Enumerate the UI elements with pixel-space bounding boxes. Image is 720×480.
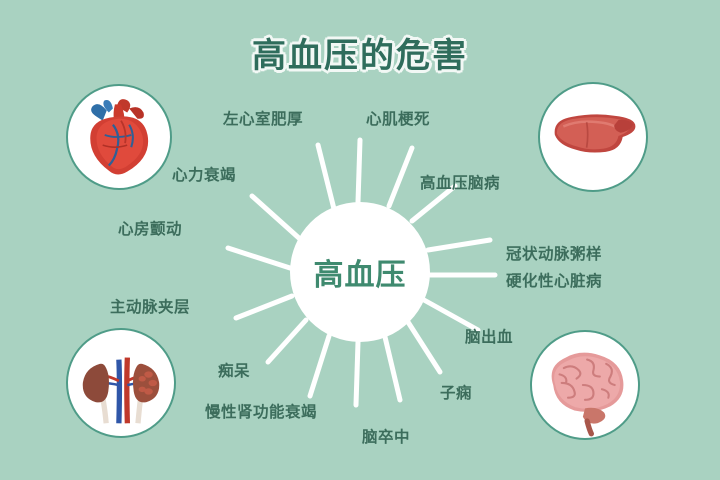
liver-illustration xyxy=(538,82,648,192)
hazard-left-ventricular-hypertrophy[interactable]: 左心室肥厚 xyxy=(223,110,303,129)
hazard-atrial-fibrillation[interactable]: 心房颤动 xyxy=(118,220,182,239)
hazard-myocardial-infarction[interactable]: 心肌梗死 xyxy=(366,110,430,129)
hazard-cerebral-hemorrhage[interactable]: 脑出血 xyxy=(465,328,513,347)
hazard-hypertensive-encephalopathy[interactable]: 高血压脑病 xyxy=(420,174,500,193)
center-node: 高血压 xyxy=(290,202,430,342)
brain-illustration xyxy=(530,330,640,440)
hazard-eclampsia[interactable]: 子痫 xyxy=(440,384,472,403)
page-title: 高血压的危害 xyxy=(0,28,720,77)
hazard-stroke[interactable]: 脑卒中 xyxy=(362,428,410,447)
hypertension-hazards-infographic: 高血压的危害 高血压 左心室肥厚 心肌梗死 高血压脑病 冠状动脉粥样 硬化性心脏… xyxy=(0,0,720,480)
hazard-aortic-dissection[interactable]: 主动脉夹层 xyxy=(110,298,190,317)
center-node-label: 高血压 xyxy=(314,250,407,294)
hazard-chronic-renal-failure[interactable]: 慢性肾功能衰竭 xyxy=(205,403,317,422)
hazard-dementia[interactable]: 痴呆 xyxy=(218,362,250,381)
heart-illustration xyxy=(66,84,172,190)
kidneys-illustration xyxy=(66,328,176,438)
hazard-coronary-atherosclerosis-line2[interactable]: 硬化性心脏病 xyxy=(506,272,602,291)
hazard-heart-failure[interactable]: 心力衰竭 xyxy=(172,166,236,185)
hazard-coronary-atherosclerosis-line1[interactable]: 冠状动脉粥样 xyxy=(506,245,602,264)
